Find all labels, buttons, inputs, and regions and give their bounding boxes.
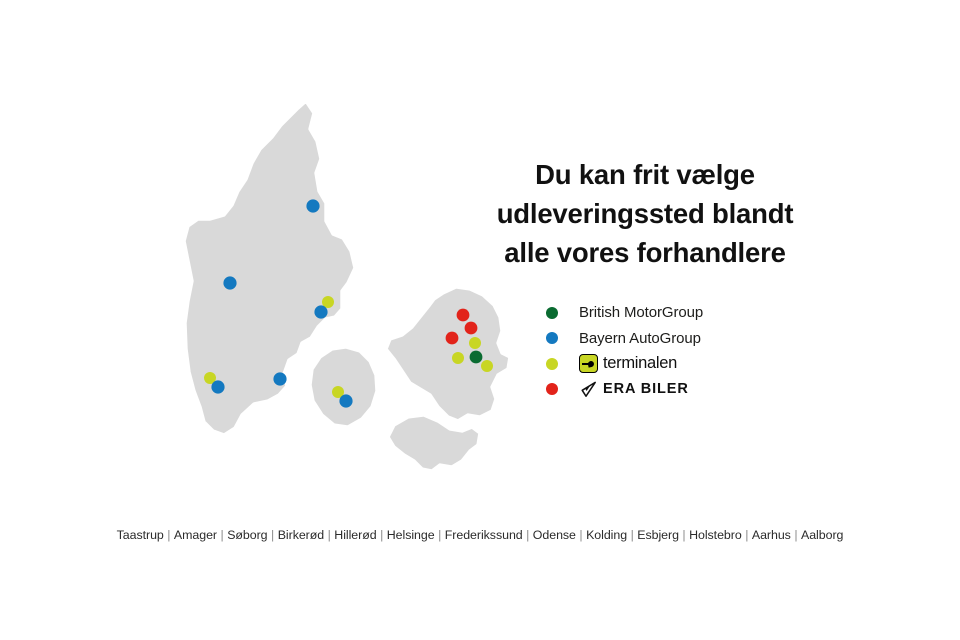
city-separator: | bbox=[268, 528, 278, 542]
marker-helsinge bbox=[457, 309, 470, 322]
map-region-zealand bbox=[386, 287, 510, 421]
legend-item-era-biler: ERA BILER bbox=[546, 377, 836, 403]
headline-line-3: alle vores forhandlere bbox=[455, 233, 835, 272]
marker-birkerod bbox=[469, 337, 481, 349]
city-name: Aarhus bbox=[752, 528, 791, 542]
marker-holstebro bbox=[223, 276, 236, 289]
city-separator: | bbox=[627, 528, 637, 542]
city-name: Amager bbox=[174, 528, 217, 542]
city-list: Taastrup|Amager|Søborg|Birkerød|Hillerød… bbox=[0, 528, 960, 542]
headline-line-1: Du kan frit vælge bbox=[455, 155, 835, 194]
era-biler-wordmark: ERA BILER bbox=[603, 381, 689, 397]
city-name: Helsinge bbox=[387, 528, 435, 542]
marker-aalborg bbox=[306, 199, 319, 212]
marker-soborg bbox=[470, 351, 483, 364]
city-name: Kolding bbox=[586, 528, 627, 542]
page-title: Du kan frit vælge udleveringssted blandt… bbox=[455, 155, 835, 272]
marker-odense-bayern bbox=[339, 394, 352, 407]
legend-dot-terminalen bbox=[546, 358, 558, 370]
legend-label-terminalen: terminalen bbox=[579, 354, 677, 373]
map-region-funen bbox=[310, 347, 377, 427]
city-separator: | bbox=[576, 528, 586, 542]
legend-dot-british-motorgroup bbox=[546, 307, 558, 319]
city-name: Esbjerg bbox=[637, 528, 679, 542]
era-biler-logo: ERA BILER bbox=[579, 381, 689, 398]
legend-label-bayern-autogroup: Bayern AutoGroup bbox=[579, 330, 701, 347]
city-separator: | bbox=[742, 528, 752, 542]
headline-line-2: udleveringssted blandt bbox=[455, 194, 835, 233]
legend-item-bayern-autogroup: Bayern AutoGroup bbox=[546, 326, 836, 352]
city-separator: | bbox=[791, 528, 801, 542]
legend-dot-era-biler bbox=[546, 383, 558, 395]
city-name: Frederikssund bbox=[445, 528, 523, 542]
map-region-lolland-falster bbox=[388, 415, 480, 471]
city-name: Hillerød bbox=[334, 528, 376, 542]
terminalen-logo: terminalen bbox=[579, 354, 677, 373]
city-separator: | bbox=[377, 528, 387, 542]
terminalen-mark-icon bbox=[579, 354, 598, 373]
promo-graphic: Du kan frit vælge udleveringssted blandt… bbox=[0, 0, 960, 640]
city-name: Søborg bbox=[227, 528, 267, 542]
city-name: Taastrup bbox=[117, 528, 164, 542]
legend-label-era-biler: ERA BILER bbox=[579, 381, 689, 398]
marker-kolding bbox=[273, 372, 286, 385]
city-name: Birkerød bbox=[278, 528, 324, 542]
city-separator: | bbox=[679, 528, 689, 542]
marker-hillerod bbox=[465, 322, 478, 335]
brand-legend: British MotorGroup Bayern AutoGroup term… bbox=[546, 300, 836, 402]
legend-item-terminalen: terminalen bbox=[546, 351, 836, 377]
marker-aarhus-bayern bbox=[314, 305, 327, 318]
marker-esbjerg-bayern bbox=[211, 380, 224, 393]
city-name: Aalborg bbox=[801, 528, 843, 542]
city-name: Odense bbox=[533, 528, 576, 542]
city-name: Holstebro bbox=[689, 528, 742, 542]
marker-amager bbox=[481, 360, 493, 372]
marker-taastrup bbox=[452, 352, 464, 364]
era-triangle-icon bbox=[579, 381, 598, 398]
city-separator: | bbox=[217, 528, 227, 542]
city-separator: | bbox=[435, 528, 445, 542]
legend-label-british-motorgroup: British MotorGroup bbox=[579, 304, 703, 321]
city-separator: | bbox=[164, 528, 174, 542]
city-separator: | bbox=[324, 528, 334, 542]
legend-dot-bayern-autogroup bbox=[546, 332, 558, 344]
terminalen-wordmark: terminalen bbox=[603, 354, 677, 373]
marker-frederikssund bbox=[446, 332, 459, 345]
legend-item-british-motorgroup: British MotorGroup bbox=[546, 300, 836, 326]
city-separator: | bbox=[523, 528, 533, 542]
